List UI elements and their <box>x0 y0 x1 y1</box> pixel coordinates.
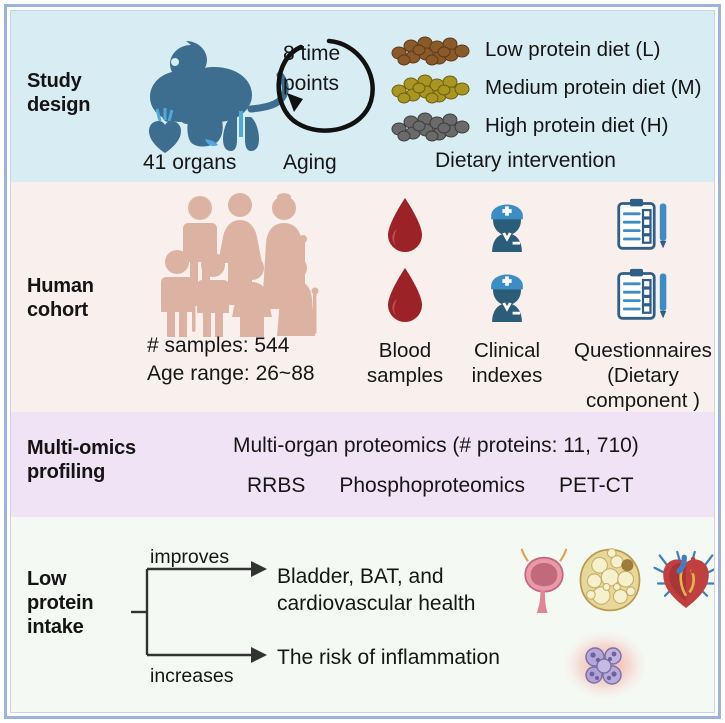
panel-label-human-cohort: Human cohort <box>27 274 94 322</box>
questionnaires-caption: Questionnaires (Dietary component ) <box>574 338 712 412</box>
multi-omics-headline: Multi-organ proteomics (# proteins: 11, … <box>233 434 639 458</box>
assay-pet-ct: PET-CT <box>559 474 634 498</box>
diet-label-low: Low protein diet (L) <box>481 39 660 61</box>
diet-item-low: Low protein diet (L) <box>383 31 714 68</box>
panel-study-design: Study design <box>11 11 714 182</box>
figure-frame: Study design <box>4 4 721 719</box>
panel-label-low-protein-intake: Low protein intake <box>27 567 93 639</box>
diet-label-medium: Medium protein diet (M) <box>481 77 701 99</box>
clinician-icon-2 <box>480 260 534 330</box>
clinician-icon-1 <box>480 190 534 260</box>
cohort-age-range: Age range: 26~88 <box>147 360 315 388</box>
branch-label-improves: improves <box>150 546 229 569</box>
panel-label-study-design: Study design <box>27 69 90 117</box>
outcome-text-increases: The risk of inflammation <box>277 644 500 671</box>
diet-label-high: High protein diet (H) <box>481 115 668 137</box>
blood-samples-caption: Blood samples <box>367 338 443 388</box>
diet-legend: Low protein diet (L) <box>383 31 714 145</box>
blood-drop-icon-1 <box>383 190 427 260</box>
assay-rrbs: RRBS <box>247 474 305 498</box>
heart-icon <box>651 545 714 620</box>
column-blood-samples: Blood samples <box>361 190 449 388</box>
diet-item-medium: Medium protein diet (M) <box>383 69 714 106</box>
panel-multi-omics: Multi-omics profiling Multi-organ proteo… <box>11 412 714 517</box>
bladder-icon <box>519 545 569 620</box>
organs-caption: 41 organs <box>143 151 236 175</box>
multi-omics-assay-list: RRBS Phosphoproteomics PET-CT <box>247 474 634 498</box>
brown-adipose-tissue-icon <box>577 546 643 619</box>
column-clinical-indexes: Clinical indexes <box>459 190 555 388</box>
people-group-icon <box>151 192 341 337</box>
figure-frame-inner: Study design <box>10 10 715 713</box>
cohort-sample-count: # samples: 544 <box>147 332 315 360</box>
blood-drop-icon-2 <box>383 260 427 330</box>
clipboard-icon-2 <box>615 260 671 330</box>
panel-outcomes: Low protein intake improves increases Bl… <box>11 517 714 712</box>
graphical-abstract-figure: Study design <box>0 0 725 723</box>
column-questionnaires: Questionnaires (Dietary component ) <box>557 190 714 412</box>
pellets-icon-low <box>383 33 481 67</box>
dietary-intervention-caption: Dietary intervention <box>435 149 616 173</box>
heart-liver-lung-icon <box>143 107 261 157</box>
panel-human-cohort: Human cohort <box>11 182 714 412</box>
clipboard-icon-1 <box>615 190 671 260</box>
diet-item-high: High protein diet (H) <box>383 107 714 144</box>
cohort-stats: # samples: 544 Age range: 26~88 <box>147 332 315 388</box>
outcome-organ-icons <box>519 545 714 620</box>
aging-caption: Aging <box>283 151 337 175</box>
assay-phosphoproteomics: Phosphoproteomics <box>339 474 525 498</box>
pellets-icon-medium <box>383 71 481 105</box>
inflammation-cells-icon <box>557 625 653 705</box>
pellets-icon-high <box>383 109 481 143</box>
branch-label-increases: increases <box>150 665 233 688</box>
outcome-text-improves: Bladder, BAT, and cardiovascular health <box>277 563 475 617</box>
panel-label-multi-omics: Multi-omics profiling <box>27 436 136 484</box>
aging-cycle-text: 8 time points <box>283 39 340 99</box>
clinical-indexes-caption: Clinical indexes <box>472 338 543 388</box>
